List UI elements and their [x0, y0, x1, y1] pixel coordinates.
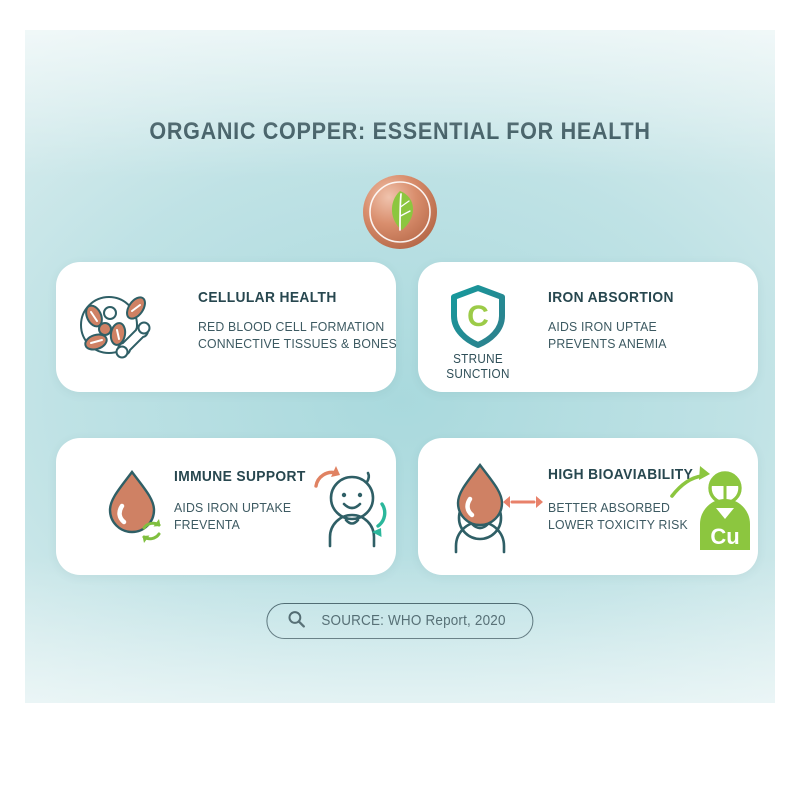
card-line-1: RED BLOOD CELL FORMATION	[198, 319, 384, 336]
card-line-1: AIDS IRON UPTAKE	[174, 500, 291, 517]
card-high-bioaviability[interactable]: HIGH BIOAVIABILITY BETTER ABSORBED LOWER…	[418, 438, 758, 575]
copper-coin-leaf-icon	[360, 172, 440, 252]
page-title: ORGANIC COPPER: ESSENTIAL FOR HEALTH	[70, 118, 730, 146]
infographic-panel: ORGANIC COPPER: ESSENTIAL FOR HEALTH	[25, 30, 775, 703]
card-line-2: CONNECTIVE TISSUES & BONES	[198, 336, 397, 353]
svg-text:Cu: Cu	[710, 524, 739, 549]
shield-c-icon: C	[448, 284, 508, 355]
card-line-2: FREVENTA	[174, 517, 240, 534]
card-immune-support[interactable]: IMMUNE SUPPORT AIDS IRON UPTAKE FREVENTA	[56, 438, 396, 575]
card-line-1: BETTER ABSORBED	[548, 500, 670, 517]
source-pill[interactable]: SOURCE: WHO Report, 2020	[266, 603, 533, 639]
drop-person-arrow-icon	[440, 462, 550, 559]
icon-caption-line-2: SUNCTION	[432, 367, 525, 382]
card-line-1: AIDS IRON UPTAE	[548, 319, 657, 336]
source-label: SOURCE: WHO Report, 2020	[321, 613, 505, 629]
infographic-canvas: ORGANIC COPPER: ESSENTIAL FOR HEALTH	[0, 0, 800, 800]
smiling-person-arrows-icon	[312, 460, 394, 557]
card-line-2: PREVENTS ANEMIA	[548, 336, 667, 353]
card-heading: IRON ABSORTION	[548, 289, 674, 306]
search-icon	[287, 610, 305, 633]
copper-person-cu-icon: Cu	[670, 462, 756, 559]
card-iron-absortion[interactable]: C STRUNE SUNCTION IRON ABSORTION AIDS IR…	[418, 262, 758, 392]
card-heading: CELLULAR HEALTH	[198, 289, 337, 306]
card-heading: IMMUNE SUPPORT	[174, 468, 306, 485]
blood-cells-bone-icon	[74, 290, 164, 375]
card-line-2: LOWER TOXICITY RISK	[548, 517, 688, 534]
blood-drop-recycle-icon	[104, 466, 166, 551]
icon-caption-line-1: STRUNE	[432, 352, 525, 367]
card-cellular-health[interactable]: CELLULAR HEALTH RED BLOOD CELL FORMATION…	[56, 262, 396, 392]
svg-text:C: C	[467, 300, 489, 333]
